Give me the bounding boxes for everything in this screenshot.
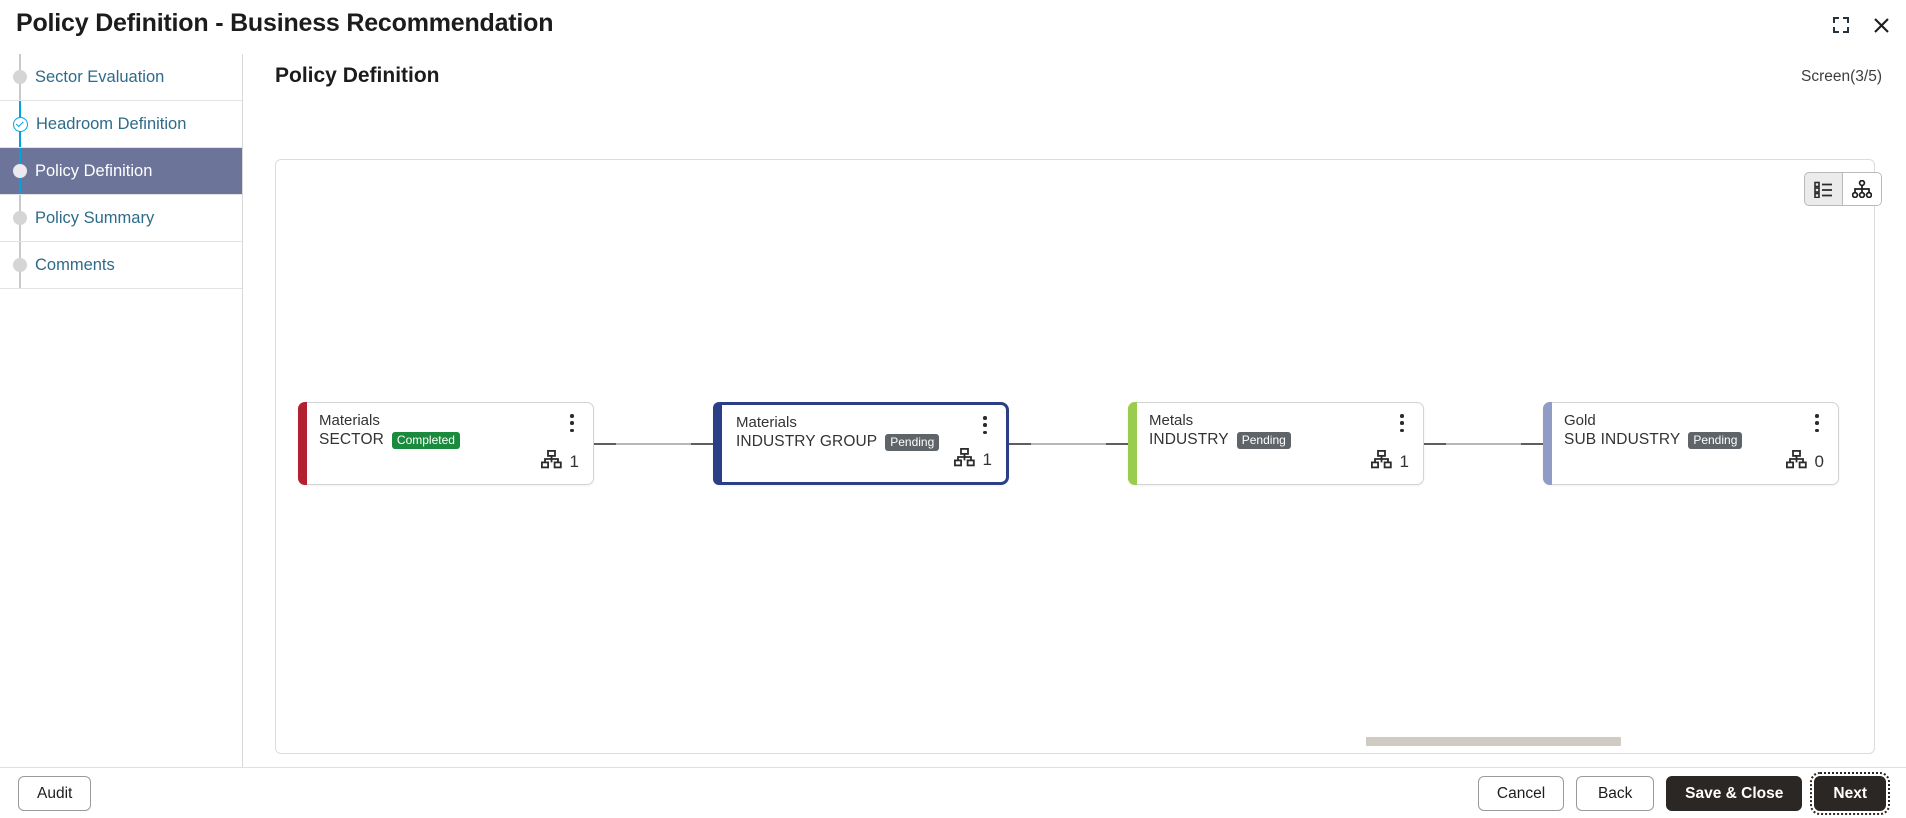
node-title: Metals — [1149, 412, 1193, 429]
status-badge: Pending — [1237, 432, 1291, 449]
footer-bar: Audit Cancel Back Save & Close Next — [0, 767, 1906, 818]
tree-connector — [594, 443, 713, 445]
step-dot-icon — [13, 211, 27, 225]
tree-node[interactable]: MaterialsSECTORCompleted1 — [298, 402, 594, 485]
sidebar-item-label: Comments — [35, 256, 115, 275]
app-window: Policy Definition - Business Recommendat… — [0, 0, 1906, 818]
sidebar-item-policy-definition[interactable]: Policy Definition — [0, 148, 242, 195]
window-title-bar: Policy Definition - Business Recommendat… — [0, 0, 1906, 54]
kebab-menu-icon[interactable] — [1810, 412, 1824, 434]
sidebar-item-comments[interactable]: Comments — [0, 242, 242, 289]
sidebar-item-policy-summary[interactable]: Policy Summary — [0, 195, 242, 242]
horizontal-scrollbar-thumb[interactable] — [1366, 737, 1621, 746]
node-child-count: 1 — [570, 453, 579, 470]
close-icon[interactable] — [1870, 14, 1892, 36]
node-accent-bar — [713, 402, 722, 485]
tree-connector — [1009, 443, 1128, 445]
node-child-count: 0 — [1815, 453, 1824, 470]
node-title: Gold — [1564, 412, 1596, 429]
sidebar-item-label: Headroom Definition — [36, 115, 186, 134]
hierarchy-children-icon — [541, 450, 562, 474]
cancel-button[interactable]: Cancel — [1478, 776, 1564, 811]
audit-button[interactable]: Audit — [18, 776, 91, 811]
step-dot-icon — [13, 164, 27, 178]
main-header: Policy Definition Screen(3/5) — [243, 54, 1906, 106]
step-dot-icon — [13, 70, 27, 84]
window-title: Policy Definition - Business Recommendat… — [16, 9, 553, 38]
main-panel: Policy Definition Screen(3/5) — [243, 54, 1906, 767]
node-children-info[interactable]: 1 — [954, 448, 992, 472]
hierarchy-children-icon — [954, 448, 975, 472]
node-child-count: 1 — [1400, 453, 1409, 470]
tree-canvas[interactable]: MaterialsSECTORCompleted1MaterialsINDUST… — [275, 159, 1875, 754]
kebab-menu-icon[interactable] — [1395, 412, 1409, 434]
tree-connector — [1424, 443, 1543, 445]
sidebar-item-headroom-definition[interactable]: Headroom Definition — [0, 101, 242, 148]
sidebar-item-label: Policy Summary — [35, 209, 154, 228]
status-badge: Pending — [885, 434, 939, 451]
node-level: INDUSTRY — [1149, 431, 1229, 449]
hierarchy-tree-icon[interactable] — [1843, 173, 1881, 205]
status-badge: Pending — [1688, 432, 1742, 449]
node-title: Materials — [319, 412, 380, 429]
step-dot-icon — [13, 258, 27, 272]
node-level: SECTOR — [319, 431, 384, 449]
kebab-menu-icon[interactable] — [978, 414, 992, 436]
node-level: SUB INDUSTRY — [1564, 431, 1680, 449]
tree-node[interactable]: MetalsINDUSTRYPending1 — [1128, 402, 1424, 485]
step-check-icon — [13, 117, 28, 132]
page-title: Policy Definition — [275, 64, 440, 88]
back-button[interactable]: Back — [1576, 776, 1654, 811]
list-view-icon[interactable] — [1805, 173, 1843, 205]
wizard-sidebar: Sector EvaluationHeadroom DefinitionPoli… — [0, 54, 243, 767]
window-controls — [1830, 14, 1892, 36]
tree-node[interactable]: GoldSUB INDUSTRYPending0 — [1543, 402, 1839, 485]
sidebar-item-label: Sector Evaluation — [35, 68, 164, 87]
collapse-corners-icon[interactable] — [1830, 14, 1852, 36]
status-badge: Completed — [392, 432, 460, 449]
node-accent-bar — [298, 402, 307, 485]
kebab-menu-icon[interactable] — [565, 412, 579, 434]
tree-node[interactable]: MaterialsINDUSTRY GROUPPending1 — [713, 402, 1009, 485]
sidebar-item-label: Policy Definition — [35, 162, 152, 181]
node-accent-bar — [1543, 402, 1552, 485]
node-children-info[interactable]: 0 — [1786, 450, 1824, 474]
node-level: INDUSTRY GROUP — [736, 433, 877, 451]
node-title: Materials — [736, 414, 797, 431]
screen-indicator: Screen(3/5) — [1801, 68, 1882, 86]
next-button[interactable]: Next — [1814, 776, 1886, 811]
node-children-info[interactable]: 1 — [541, 450, 579, 474]
save-and-close-button[interactable]: Save & Close — [1666, 776, 1802, 811]
node-child-count: 1 — [983, 451, 992, 468]
node-children-info[interactable]: 1 — [1371, 450, 1409, 474]
hierarchy-children-icon — [1371, 450, 1392, 474]
hierarchy-children-icon — [1786, 450, 1807, 474]
view-mode-toggle — [1804, 172, 1882, 206]
node-accent-bar — [1128, 402, 1137, 485]
sidebar-item-sector-evaluation[interactable]: Sector Evaluation — [0, 54, 242, 101]
